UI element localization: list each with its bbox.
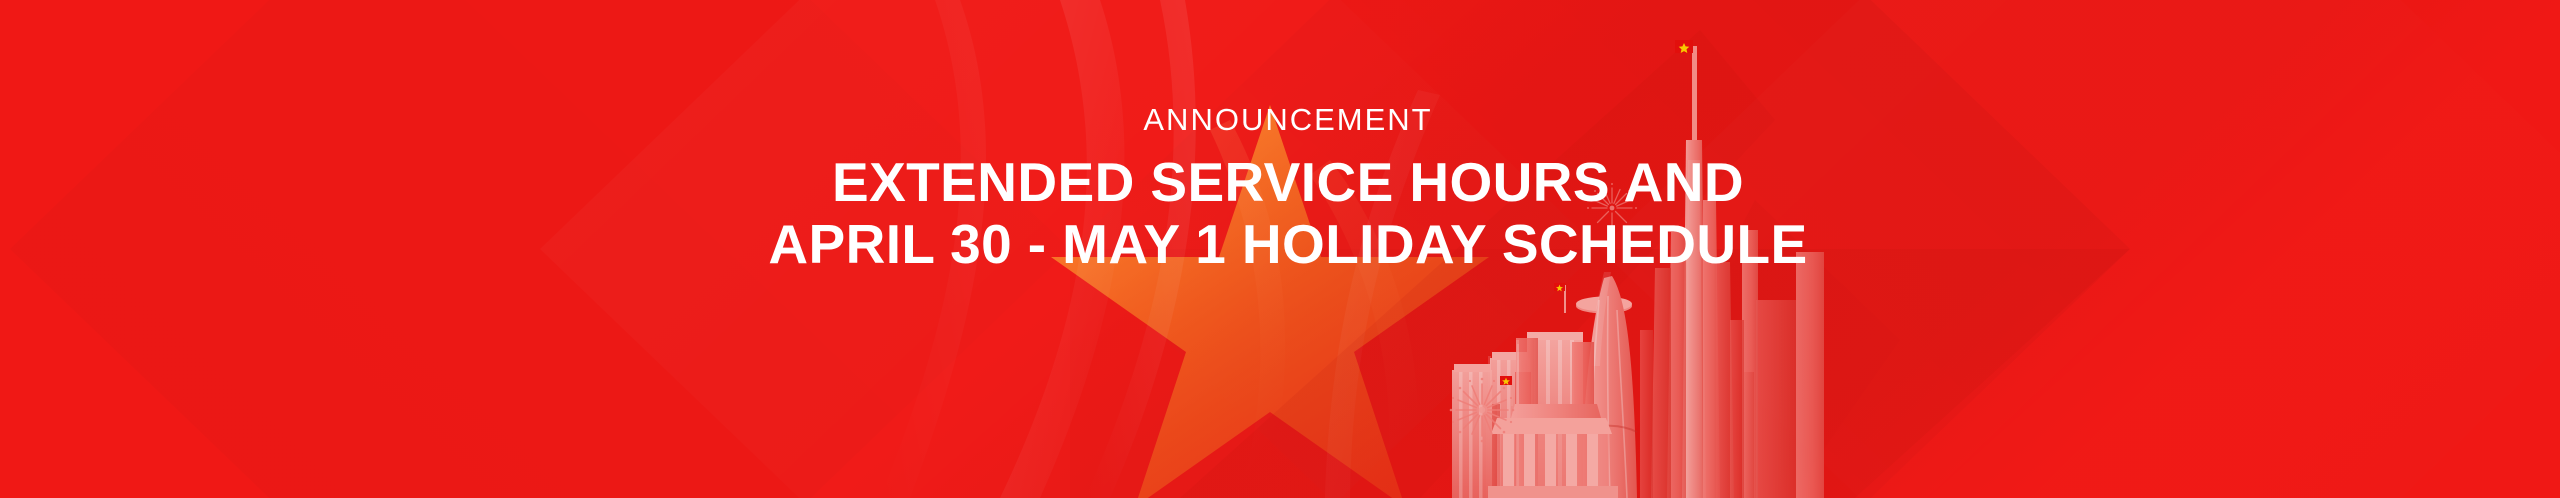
banner-headline: EXTENDED SERVICE HOURS AND APRIL 30 - MA… (768, 153, 1807, 274)
banner-eyebrow: ANNOUNCEMENT (1143, 104, 1432, 135)
headline-line-2: APRIL 30 - MAY 1 HOLIDAY SCHEDULE (768, 215, 1807, 273)
announcement-banner: ANNOUNCEMENT EXTENDED SERVICE HOURS AND … (0, 0, 2560, 498)
headline-line-1: EXTENDED SERVICE HOURS AND (832, 151, 1744, 213)
banner-content: ANNOUNCEMENT EXTENDED SERVICE HOURS AND … (0, 0, 2560, 498)
